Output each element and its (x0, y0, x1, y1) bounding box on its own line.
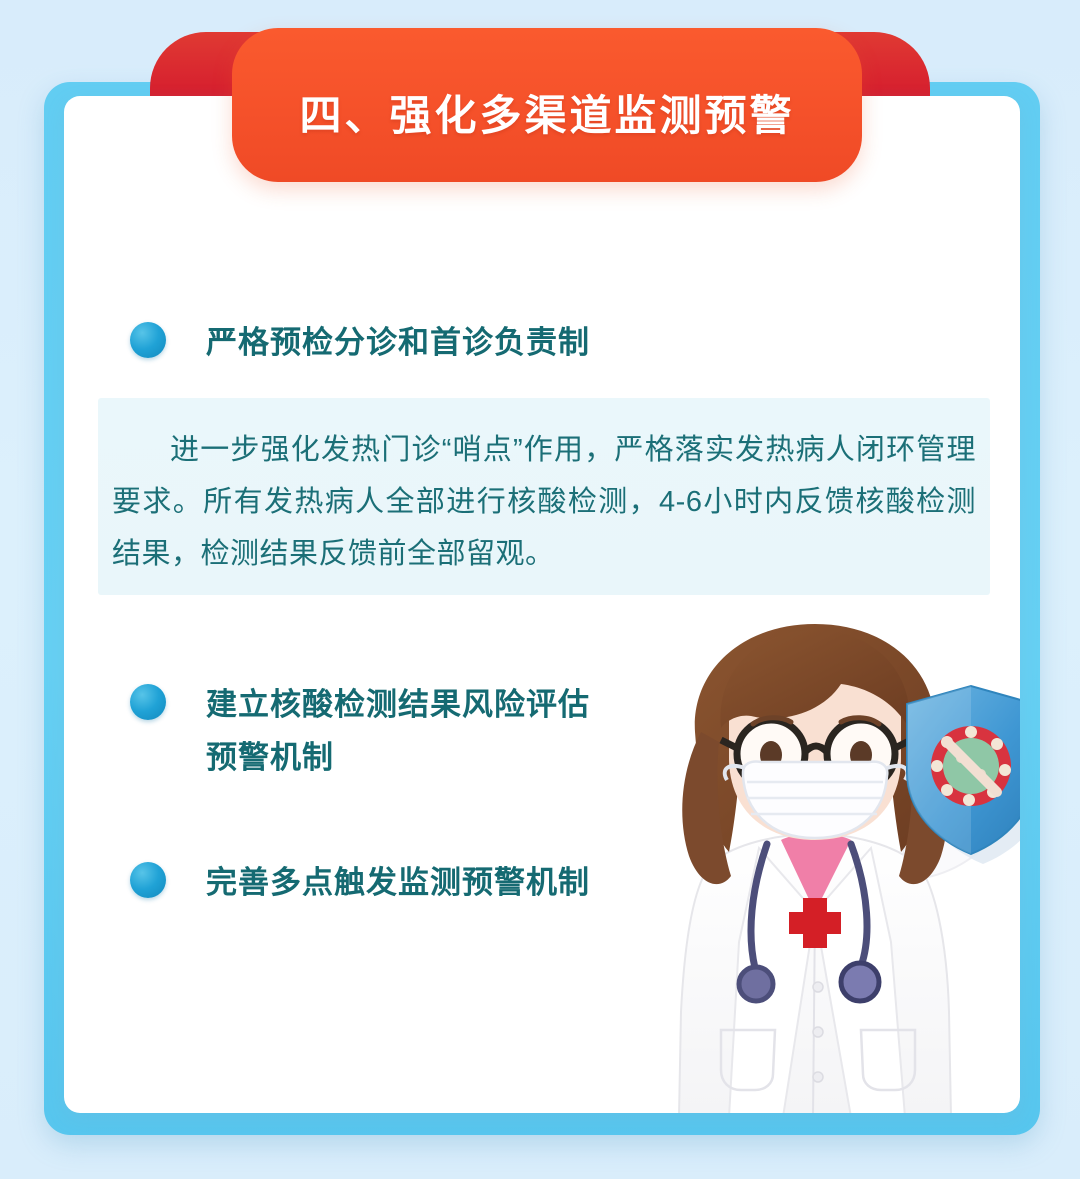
paragraph-text: 进一步强化发热门诊“哨点”作用，严格落实发热病人闭环管理要求。所有发热病人全部进… (112, 424, 976, 580)
bullet-dot-icon (130, 862, 166, 898)
coat-button (813, 1072, 823, 1082)
bullet-item-2: 建立核酸检测结果风险评估 预警机制 (130, 678, 590, 785)
bullet-dot-icon (130, 322, 166, 358)
bullet-label-1: 严格预检分诊和首诊负责制 (206, 316, 590, 369)
female-doctor-illustration (655, 612, 1020, 1113)
stethoscope-chestpiece (841, 963, 879, 1001)
coat-button (813, 982, 823, 992)
section-title: 四、强化多渠道监测预警 (299, 68, 794, 143)
bullet-item-3: 完善多点触发监测预警机制 (130, 856, 590, 909)
stethoscope-bell-left (739, 967, 773, 1001)
bullet-dot-icon (130, 684, 166, 720)
face-mask (725, 761, 908, 838)
bullet-item-1: 严格预检分诊和首诊负责制 (130, 316, 590, 369)
coat-button (813, 1027, 823, 1037)
section-banner: 四、强化多渠道监测预警 (232, 28, 862, 182)
content-card: 严格预检分诊和首诊负责制 进一步强化发热门诊“哨点”作用，严格落实发热病人闭环管… (64, 96, 1020, 1113)
bullet-label-2: 建立核酸检测结果风险评估 预警机制 (206, 678, 590, 785)
infographic-page: 严格预检分诊和首诊负责制 进一步强化发热门诊“哨点”作用，严格落实发热病人闭环管… (0, 0, 1080, 1179)
bullet-label-3: 完善多点触发监测预警机制 (206, 856, 590, 909)
paragraph-panel: 进一步强化发热门诊“哨点”作用，严格落实发热病人闭环管理要求。所有发热病人全部进… (98, 398, 990, 595)
